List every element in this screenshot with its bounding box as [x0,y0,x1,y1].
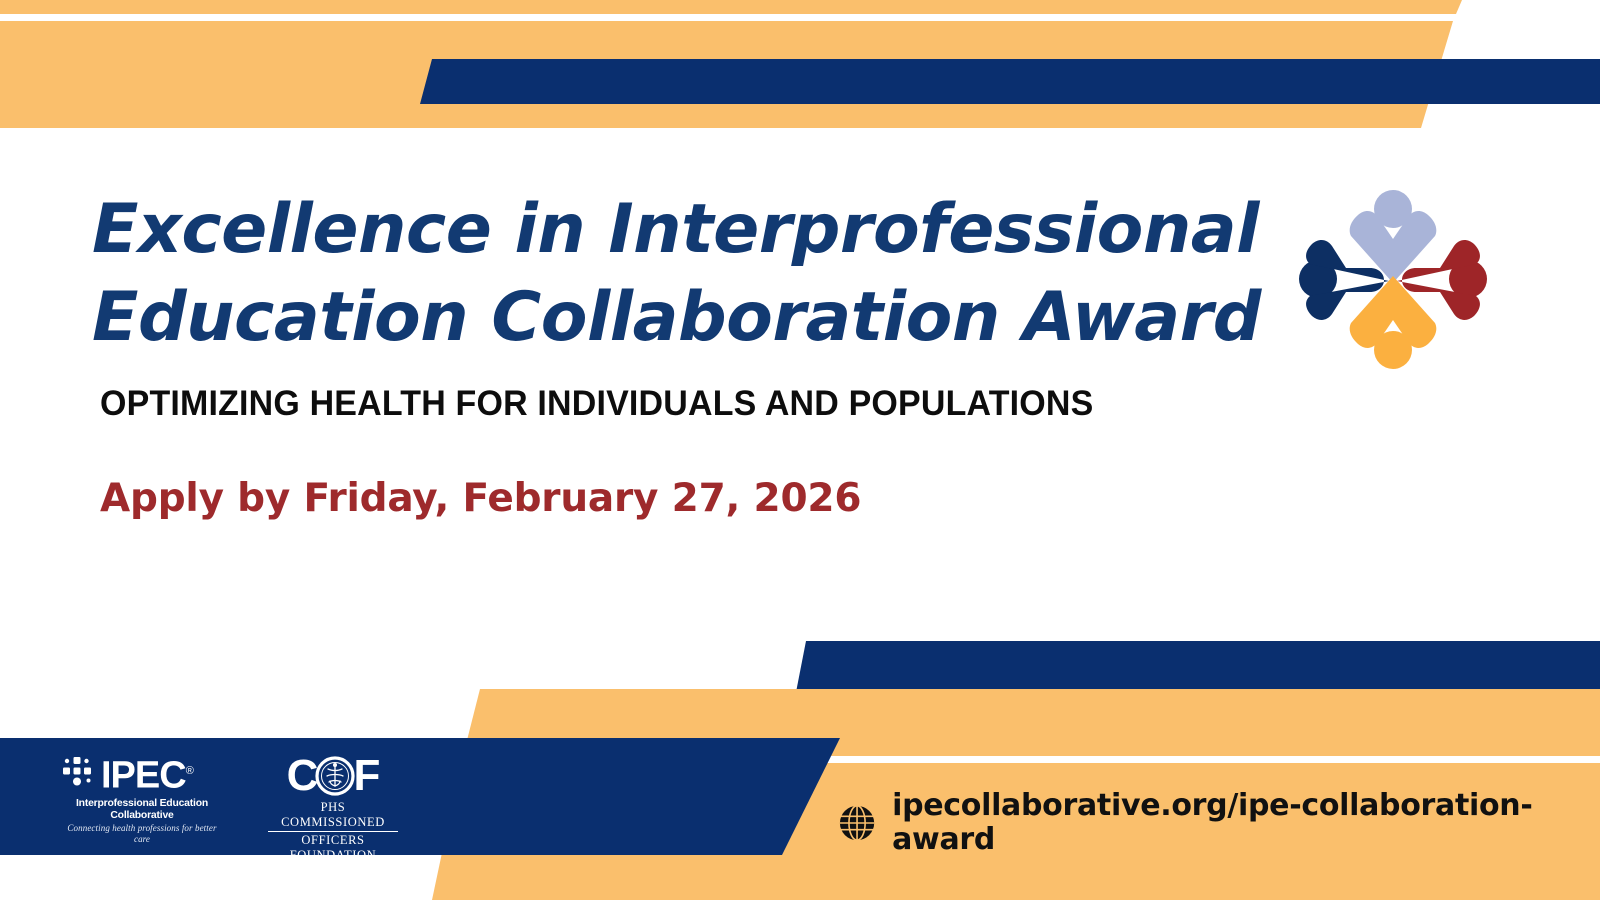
page-title: Excellence in Interprofessional Educatio… [92,186,1272,362]
cof-subtitle-line2: OFFICERS FOUNDATION [268,832,398,863]
ipec-registered-mark: ® [186,765,193,777]
award-announcement-poster: Excellence in Interprofessional Educatio… [0,0,1600,900]
ipec-people-circle-icon [1288,182,1498,377]
headline-block: Excellence in Interprofessional Educatio… [92,186,1272,522]
ipec-dots-icon [62,756,96,790]
cof-logo[interactable]: C F PHS COMMISSIONED O [268,754,398,863]
url-strip[interactable]: ipecollaborative.org/ipe-collaboration-a… [838,789,1600,857]
ipec-wordmark-text: IPEC [101,755,186,797]
cof-letter-f: F [353,754,379,798]
ipec-tagline: Connecting health professions for better… [62,823,222,845]
top-navy-band [420,59,1600,104]
cof-letter-c: C [287,754,318,798]
award-url: ipecollaborative.org/ipe-collaboration-a… [892,789,1600,857]
cof-subtitle-line1: PHS COMMISSIONED [268,800,398,832]
globe-icon [838,803,876,843]
ipec-wordmark-row: IPEC® [62,752,222,795]
top-orange-band-thin [0,0,1462,14]
ipec-full-name: Interprofessional Education Collaborativ… [62,798,222,822]
apply-deadline-text: Apply by Friday, February 27, 2026 [100,476,1272,522]
footer-logos: IPEC® Interprofessional Education Collab… [62,752,398,863]
cof-wordmark-row: C F [268,754,398,798]
ipec-logo[interactable]: IPEC® Interprofessional Education Collab… [62,752,222,845]
award-subtitle: OPTIMIZING HEALTH FOR INDIVIDUALS AND PO… [100,384,1237,424]
ipec-wordmark: IPEC® [101,752,193,795]
phs-seal-icon [315,756,355,796]
